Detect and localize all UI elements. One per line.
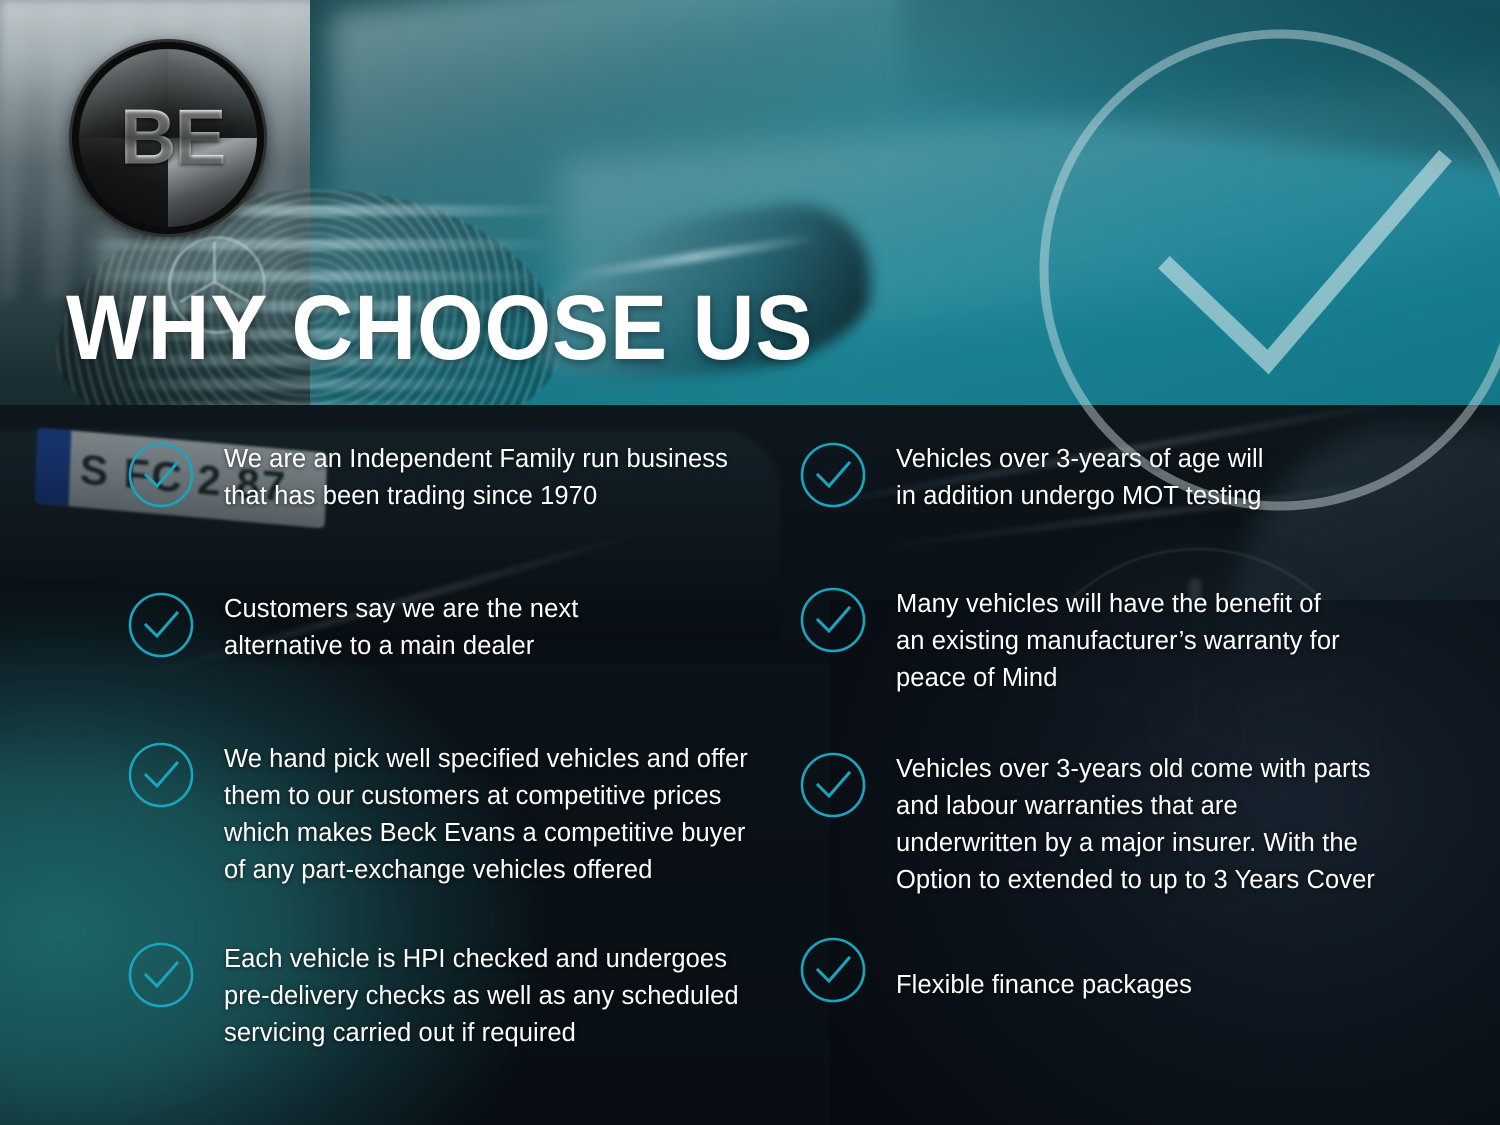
check-circle-icon [800, 440, 866, 513]
license-plate-eu-band [35, 427, 72, 506]
check-circle-icon [128, 740, 194, 813]
page-title: WHY CHOOSE US [66, 282, 813, 374]
why-choose-us-graphic: S FC 2 87 BE WHY CHOOSE US We are an Ind… [0, 0, 1500, 1125]
benefit-text: Many vehicles will have the benefit of a… [896, 585, 1340, 697]
benefit-text: We hand pick well specified vehicles and… [224, 740, 748, 889]
benefit-item: Flexible finance packages [800, 935, 1440, 1008]
car-grille-slat [114, 379, 511, 390]
benefit-item: Each vehicle is HPI checked and undergoe… [128, 940, 768, 1052]
check-circle-icon [128, 940, 194, 1013]
benefit-item: We are an Independent Family run busines… [128, 440, 768, 515]
check-circle-icon [800, 935, 866, 1008]
benefit-item: Many vehicles will have the benefit of a… [800, 585, 1440, 697]
benefit-text: Customers say we are the next alternativ… [224, 590, 578, 665]
benefit-item: Vehicles over 3-years old come with part… [800, 750, 1440, 899]
benefit-text: Vehicles over 3-years of age will in add… [896, 440, 1264, 515]
spoke [213, 242, 216, 282]
logo-text: BE [120, 97, 224, 175]
benefit-item: Vehicles over 3-years of age will in add… [800, 440, 1440, 515]
benefit-text: Flexible finance packages [896, 935, 1192, 1004]
benefit-item: Customers say we are the next alternativ… [128, 590, 768, 665]
benefit-text: We are an Independent Family run busines… [224, 440, 728, 515]
benefit-text: Vehicles over 3-years old come with part… [896, 750, 1375, 899]
benefit-item: We hand pick well specified vehicles and… [128, 740, 768, 889]
check-circle-icon [800, 750, 866, 823]
benefit-text: Each vehicle is HPI checked and undergoe… [224, 940, 739, 1052]
check-circle-icon [128, 590, 194, 663]
check-circle-icon [128, 440, 194, 513]
check-circle-icon [800, 585, 866, 658]
logo-roundel[interactable]: BE [72, 42, 264, 234]
